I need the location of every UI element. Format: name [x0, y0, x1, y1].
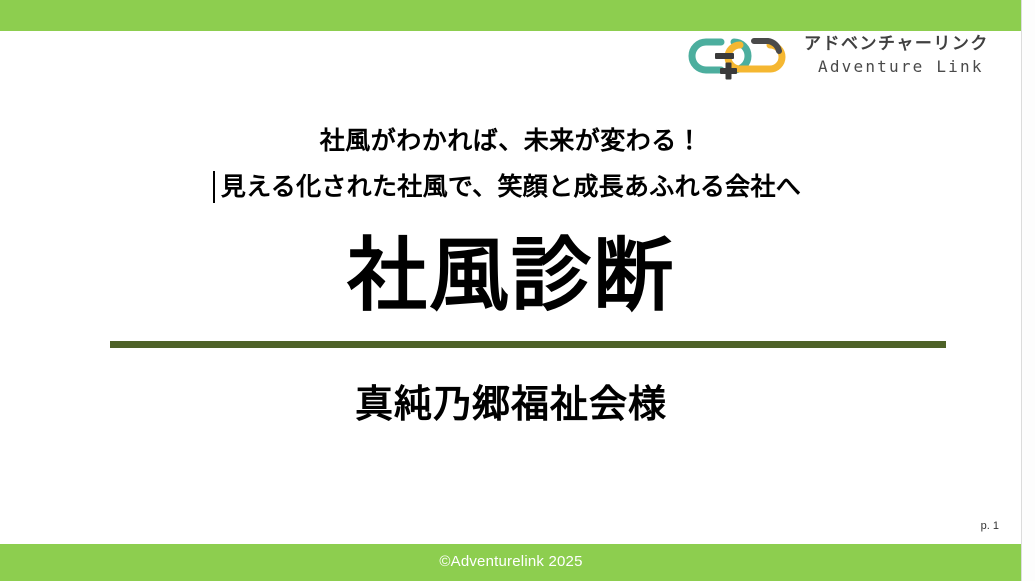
top-green-band: [0, 0, 1022, 31]
text-cursor-caret: [213, 171, 215, 203]
logo-latin-text: Adventure Link: [804, 55, 1020, 79]
slide-main-title: 社風診断: [0, 228, 1022, 324]
presentation-slide: アドベンチャーリンク Adventure Link 社風がわかれば、未来が変わる…: [0, 0, 1035, 581]
logo-kana-text: アドベンチャーリンク: [804, 33, 1020, 55]
adventure-link-logo: アドベンチャーリンク Adventure Link: [684, 33, 1020, 85]
slide-subtitle-line-2-container: 見える化された社風で、笑顔と成長あふれる会社へ: [0, 170, 1022, 204]
title-divider-rule: [110, 341, 946, 348]
logo-wordmark: アドベンチャーリンク Adventure Link: [804, 33, 1020, 85]
slide-subtitle-line-2-text: 見える化された社風で、笑顔と成長あふれる会社へ: [221, 172, 801, 201]
slide-right-edge-border: [1021, 0, 1022, 581]
slide-subtitle-line-2[interactable]: 見える化された社風で、笑顔と成長あふれる会社へ: [221, 170, 801, 204]
client-name: 真純乃郷福祉会様: [0, 378, 1022, 430]
footer-copyright: ©Adventurelink 2025: [0, 553, 1022, 570]
slide-subtitle-line-1: 社風がわかれば、未来が変わる！: [0, 125, 1022, 157]
page-number: p. 1: [981, 520, 999, 532]
slide-right-margin: [1022, 0, 1035, 581]
chain-link-logo-icon: [684, 35, 802, 83]
